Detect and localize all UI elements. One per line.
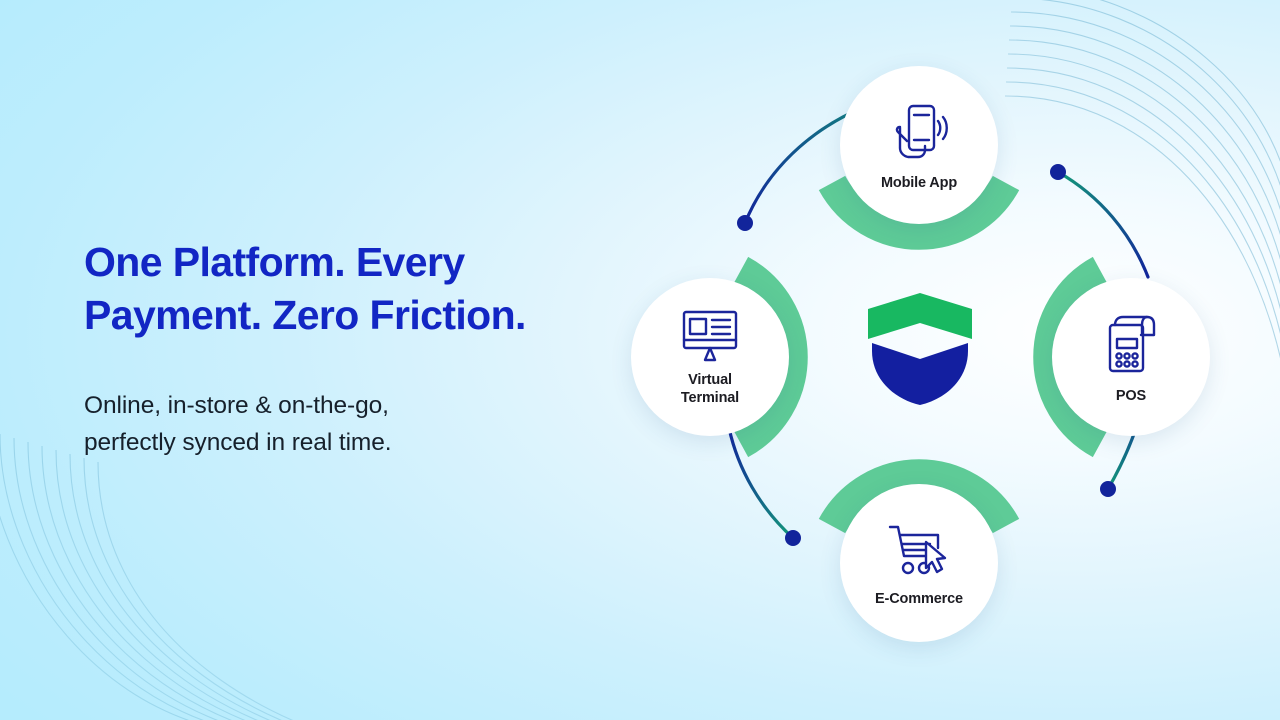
headline-line-1: One Platform. Every <box>84 236 644 289</box>
connector-top-right <box>1058 172 1148 277</box>
pos-terminal-icon <box>1101 313 1161 375</box>
shield-logo-green-chevron <box>868 293 972 339</box>
node-label-e-commerce: E-Commerce <box>875 591 963 608</box>
node-pos[interactable]: POS <box>1052 278 1210 436</box>
node-virtual-terminal[interactable]: Virtual Terminal <box>631 278 789 436</box>
payment-channels-diagram: Mobile App POS <box>600 0 1280 720</box>
hero-copy: One Platform. Every Payment. Zero Fricti… <box>84 236 644 343</box>
shield-logo-blue-shield <box>872 343 968 405</box>
node-mobile-app[interactable]: Mobile App <box>840 66 998 224</box>
subhead-line-2: perfectly synced in real time. <box>84 425 604 462</box>
connector-dot-bottom-left <box>785 530 801 546</box>
node-label-virtual-terminal: Virtual Terminal <box>681 372 739 406</box>
node-label-mobile-app: Mobile App <box>881 175 957 192</box>
connector-dot-top-right <box>1050 164 1066 180</box>
node-e-commerce[interactable]: E-Commerce <box>840 484 998 642</box>
hero-banner: One Platform. Every Payment. Zero Fricti… <box>0 0 1280 720</box>
shopping-cart-cursor-icon <box>886 522 952 580</box>
desktop-monitor-icon <box>679 309 741 363</box>
shield-logo <box>862 293 978 405</box>
connector-dot-bottom-right <box>1100 481 1116 497</box>
node-label-vt-line-1: Virtual <box>688 372 732 388</box>
connector-dot-top-left <box>737 215 753 231</box>
mobile-phone-contactless-icon <box>888 102 950 162</box>
headline-line-2: Payment. Zero Friction. <box>84 289 644 342</box>
subhead-line-1: Online, in-store & on-the-go, <box>84 388 604 425</box>
node-label-pos: POS <box>1116 388 1146 405</box>
page-subtitle: Online, in-store & on-the-go, perfectly … <box>84 388 604 462</box>
page-title: One Platform. Every Payment. Zero Fricti… <box>84 236 644 343</box>
node-label-vt-line-2: Terminal <box>681 390 739 406</box>
